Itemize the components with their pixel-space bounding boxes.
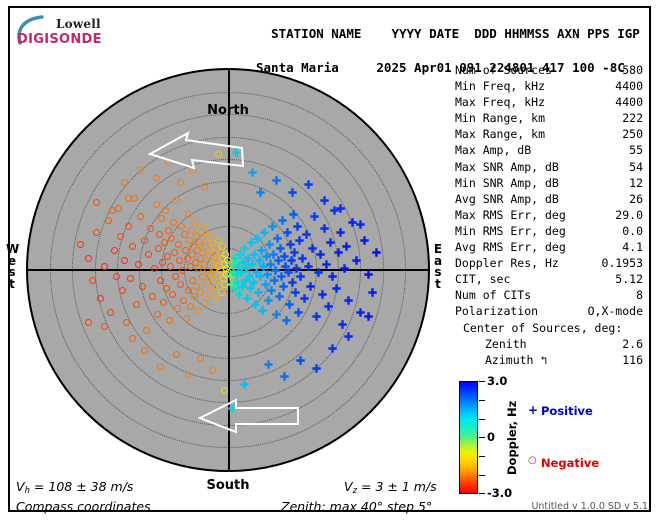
- source-point-negative: [177, 281, 184, 288]
- source-point-negative: [119, 287, 126, 294]
- source-point-positive: [288, 182, 297, 191]
- stat-key: Num of Sources: [455, 62, 552, 78]
- center-of-sources-azimuth-label: Azimuth ↰: [485, 352, 547, 368]
- source-point-negative: [182, 247, 189, 254]
- source-point-positive: [364, 264, 373, 273]
- source-point-negative: [77, 241, 84, 248]
- source-point-negative: [143, 327, 150, 334]
- source-point-negative: [205, 291, 212, 298]
- source-point-positive: [340, 258, 349, 267]
- drift-arrow-upper-icon: [146, 130, 246, 174]
- source-point-positive: [289, 204, 298, 213]
- source-point-positive: [310, 206, 319, 215]
- source-point-negative: [201, 183, 208, 190]
- source-point-negative: [167, 263, 174, 270]
- source-point-positive: [344, 326, 353, 335]
- source-point-negative: [154, 311, 161, 318]
- source-point-positive: [320, 218, 329, 227]
- legend-positive-label: Positive: [541, 404, 593, 418]
- source-point-positive: [273, 228, 282, 237]
- source-point-negative: [157, 277, 164, 284]
- source-point-negative: [97, 295, 104, 302]
- legend-positive-symbol: +: [528, 403, 538, 417]
- source-point-negative: [111, 247, 118, 254]
- stat-key: Max Range, km: [455, 126, 545, 142]
- stat-row: Max SNR Amp, dB54: [455, 159, 645, 175]
- source-point-negative: [153, 201, 160, 208]
- source-point-negative: [158, 215, 165, 222]
- source-point-negative: [180, 297, 187, 304]
- source-point-positive: [352, 250, 361, 259]
- source-point-negative: [191, 219, 198, 226]
- source-point-positive: [316, 244, 325, 253]
- source-point-negative: [159, 259, 166, 266]
- source-point-positive: [304, 256, 313, 265]
- stat-row: Min Freq, kHz4400: [455, 78, 645, 94]
- source-point-positive: [336, 198, 345, 207]
- stat-row: Max Amp, dB55: [455, 142, 645, 158]
- stat-row: Avg RMS Err, deg4.1: [455, 239, 645, 255]
- source-point-negative: [141, 237, 148, 244]
- source-point-positive: [302, 224, 311, 233]
- compass-east-char-3: t: [432, 279, 444, 291]
- source-point-negative: [121, 257, 128, 264]
- source-point-negative: [127, 275, 134, 282]
- source-point-positive: [342, 236, 351, 245]
- source-point-negative: [197, 355, 204, 362]
- source-point-negative: [125, 195, 132, 202]
- doppler-colorbar[interactable]: [459, 381, 478, 494]
- source-point-negative: [174, 305, 181, 312]
- source-point-negative: [183, 315, 190, 322]
- logo-digisonde-text: DIGISONDE: [17, 32, 102, 47]
- stat-key: Num of CITs: [455, 287, 531, 303]
- stat-value: 54: [629, 159, 643, 175]
- colorbar-mid-label: 0: [487, 430, 495, 444]
- statistics-panel: Num of Sources580Min Freq, kHz4400Max Fr…: [455, 62, 645, 368]
- source-point-negative: [201, 299, 208, 306]
- source-point-positive: [248, 162, 257, 171]
- source-point-negative: [181, 231, 188, 238]
- source-point-positive: [336, 222, 345, 231]
- stat-row: Min Range, km222: [455, 110, 645, 126]
- source-point-negative: [179, 267, 186, 274]
- source-point-positive: [283, 222, 292, 231]
- stat-key: Min Freq, kHz: [455, 78, 545, 94]
- stat-key: Max Amp, dB: [455, 142, 531, 158]
- source-point-negative: [203, 279, 210, 286]
- source-point-positive: [256, 182, 265, 191]
- source-point-negative: [185, 371, 192, 378]
- source-point-positive: [326, 232, 335, 241]
- source-point-negative: [123, 319, 130, 326]
- stat-key: Max Freq, kHz: [455, 94, 545, 110]
- skymap-polar-plot[interactable]: North South West East: [26, 68, 430, 472]
- logo-lowell-text: Lowell: [56, 17, 101, 31]
- stat-key: Max SNR Amp, dB: [455, 159, 559, 175]
- source-point-negative: [162, 207, 169, 214]
- source-point-negative: [151, 265, 158, 272]
- source-point-negative: [169, 291, 176, 298]
- stat-key: Polarization: [455, 303, 538, 319]
- source-point-negative: [164, 253, 171, 260]
- source-point-negative: [93, 199, 100, 206]
- source-point-positive: [328, 338, 337, 347]
- stat-value: 4400: [615, 78, 643, 94]
- source-point-negative: [157, 363, 164, 370]
- source-point-negative: [139, 283, 146, 290]
- source-point-negative: [131, 195, 138, 202]
- stat-key: Max RMS Err, deg: [455, 207, 566, 223]
- stat-row: Avg SNR Amp, dB26: [455, 191, 645, 207]
- source-point-negative: [137, 213, 144, 220]
- stat-row: Doppler Res, Hz0.1953: [455, 255, 645, 271]
- source-point-negative: [165, 227, 172, 234]
- source-point-negative: [176, 257, 183, 264]
- compass-label-north: North: [207, 103, 249, 118]
- stat-value: 8: [636, 287, 643, 303]
- center-of-sources-header: Center of Sources, deg:: [455, 320, 645, 336]
- compass-west-char-3: t: [6, 279, 18, 291]
- source-point-negative: [175, 241, 182, 248]
- source-point-positive: [293, 216, 302, 225]
- source-point-negative: [168, 235, 175, 242]
- source-point-positive: [291, 282, 300, 291]
- stat-key: Min SNR Amp, dB: [455, 175, 559, 191]
- source-point-positive: [318, 284, 327, 293]
- source-point-negative: [107, 309, 114, 316]
- coordinates-note: Compass coordinates: [16, 499, 151, 514]
- center-of-sources-zenith-label: Zenith: [485, 336, 527, 352]
- source-point-negative: [125, 223, 132, 230]
- source-point-positive: [279, 276, 288, 285]
- source-point-negative: [153, 175, 160, 182]
- source-point-negative: [212, 295, 219, 302]
- header-columns: STATION NAME YYYY DATE DDD HHMMSS AXN PP…: [271, 26, 640, 41]
- stat-row: Max Range, km250: [455, 126, 645, 142]
- stat-value: 0.1953: [601, 255, 643, 271]
- source-point-negative: [200, 223, 207, 230]
- source-point-negative: [172, 273, 179, 280]
- source-point-positive: [338, 314, 347, 323]
- stat-value: 4.1: [622, 239, 643, 255]
- drift-arrow-lower-icon: [196, 396, 306, 440]
- source-point-negative: [173, 197, 180, 204]
- source-point-positive: [372, 242, 381, 251]
- source-point-positive: [306, 276, 315, 285]
- stat-value: 4400: [615, 94, 643, 110]
- source-point-positive: [280, 366, 289, 375]
- zenith-scale-note: Zenith: max 40° step 5°: [281, 499, 432, 514]
- source-point-negative: [185, 287, 192, 294]
- source-point-negative: [221, 387, 228, 394]
- source-point-positive: [304, 174, 313, 183]
- source-point-negative: [93, 229, 100, 236]
- stat-value: 0.0: [622, 223, 643, 239]
- source-point-negative: [115, 205, 122, 212]
- source-point-negative: [170, 219, 177, 226]
- source-point-negative: [149, 293, 156, 300]
- source-point-negative: [198, 229, 205, 236]
- source-point-negative: [89, 277, 96, 284]
- stat-row: Num of Sources580: [455, 62, 645, 78]
- center-of-sources-azimuth-row: Azimuth ↰116: [455, 352, 645, 368]
- stat-value: O,X-mode: [588, 303, 643, 319]
- source-point-negative: [197, 289, 204, 296]
- stat-key: Avg RMS Err, deg: [455, 239, 566, 255]
- source-point-negative: [113, 273, 120, 280]
- stat-value: 12: [629, 175, 643, 191]
- source-point-positive: [356, 214, 365, 223]
- colorbar-title: Doppler, Hz: [505, 382, 519, 494]
- source-point-negative: [166, 317, 173, 324]
- stat-value: 55: [629, 142, 643, 158]
- source-point-negative: [195, 307, 202, 314]
- source-point-positive: [296, 350, 305, 359]
- source-point-negative: [208, 285, 215, 292]
- source-point-positive: [368, 282, 377, 291]
- source-point-positive: [278, 210, 287, 219]
- source-point-negative: [218, 289, 225, 296]
- legend-negative-symbol: ○: [528, 455, 537, 466]
- source-point-negative: [173, 351, 180, 358]
- source-point-negative: [206, 231, 213, 238]
- source-point-negative: [156, 231, 163, 238]
- source-point-negative: [171, 249, 178, 256]
- source-point-negative: [209, 367, 216, 374]
- stat-key: CIT, sec: [455, 271, 510, 287]
- source-point-negative: [161, 239, 168, 246]
- source-point-negative: [160, 299, 167, 306]
- stat-value: 580: [622, 62, 643, 78]
- source-point-negative: [105, 217, 112, 224]
- source-point-negative: [117, 233, 124, 240]
- source-point-negative: [145, 251, 152, 258]
- stat-value: 29.0: [615, 207, 643, 223]
- vertical-velocity-readout: Vz = 3 ± 1 m/s: [344, 479, 437, 496]
- source-point-negative: [109, 207, 116, 214]
- source-point-negative: [137, 167, 144, 174]
- source-point-negative: [163, 285, 170, 292]
- source-point-positive: [324, 296, 333, 305]
- compass-label-south: South: [206, 478, 249, 493]
- stat-value: 222: [622, 110, 643, 126]
- center-of-sources-title: Center of Sources, deg:: [463, 320, 622, 336]
- source-point-negative: [155, 245, 162, 252]
- stat-row: PolarizationO,X-mode: [455, 303, 645, 319]
- source-point-positive: [360, 230, 369, 239]
- source-point-negative: [178, 223, 185, 230]
- source-point-negative: [188, 227, 195, 234]
- stat-key: Min Range, km: [455, 110, 545, 126]
- stat-value: 26: [629, 191, 643, 207]
- source-point-negative: [177, 179, 184, 186]
- source-point-positive: [344, 290, 353, 299]
- source-point-negative: [133, 301, 140, 308]
- stat-row: CIT, sec5.12: [455, 271, 645, 287]
- source-point-negative: [135, 261, 142, 268]
- source-point-negative: [219, 243, 226, 250]
- source-point-positive: [312, 358, 321, 367]
- source-point-positive: [332, 278, 341, 287]
- version-label: Untitled v 1.0.0 SD v 5.1: [531, 501, 648, 512]
- source-point-positive: [282, 310, 291, 319]
- compass-label-east: East: [432, 244, 444, 290]
- source-point-positive: [294, 302, 303, 311]
- source-point-negative: [141, 347, 148, 354]
- stat-row: Max RMS Err, deg29.0: [455, 207, 645, 223]
- stat-value: 5.12: [615, 271, 643, 287]
- source-point-negative: [101, 323, 108, 330]
- stat-key: Avg SNR Amp, dB: [455, 191, 559, 207]
- center-of-sources-zenith-row: Zenith2.6: [455, 336, 645, 352]
- stat-row: Max Freq, kHz4400: [455, 94, 645, 110]
- source-point-negative: [85, 319, 92, 326]
- source-point-negative: [129, 335, 136, 342]
- legend-negative-label: Negative: [541, 456, 599, 470]
- source-point-positive: [240, 374, 249, 383]
- stat-value: 250: [622, 126, 643, 142]
- compass-label-west: West: [6, 244, 18, 290]
- source-point-negative: [185, 211, 192, 218]
- stat-row: Num of CITs8: [455, 287, 645, 303]
- stat-key: Doppler Res, Hz: [455, 255, 559, 271]
- source-point-positive: [328, 266, 337, 275]
- horizontal-velocity-readout: Vh = 108 ± 38 m/s: [16, 479, 133, 496]
- center-of-sources-zenith-value: 2.6: [622, 336, 643, 352]
- stat-row: Min SNR Amp, dB12: [455, 175, 645, 191]
- source-point-positive: [322, 254, 331, 263]
- source-point-positive: [364, 306, 373, 315]
- source-point-positive: [272, 304, 281, 313]
- source-point-positive: [272, 170, 281, 179]
- center-of-sources-azimuth-value: 116: [622, 352, 643, 368]
- source-point-negative: [129, 243, 136, 250]
- source-point-negative: [101, 263, 108, 270]
- stat-row: Min RMS Err, deg0.0: [455, 223, 645, 239]
- stat-key: Min RMS Err, deg: [455, 223, 566, 239]
- source-point-negative: [85, 255, 92, 262]
- source-point-positive: [264, 354, 273, 363]
- source-point-positive: [320, 190, 329, 199]
- source-point-negative: [187, 303, 194, 310]
- source-point-positive: [268, 216, 277, 225]
- source-point-positive: [312, 306, 321, 315]
- lowell-digisonde-logo: Lowell DIGISONDE: [14, 13, 110, 49]
- source-point-negative: [147, 225, 154, 232]
- source-point-negative: [121, 179, 128, 186]
